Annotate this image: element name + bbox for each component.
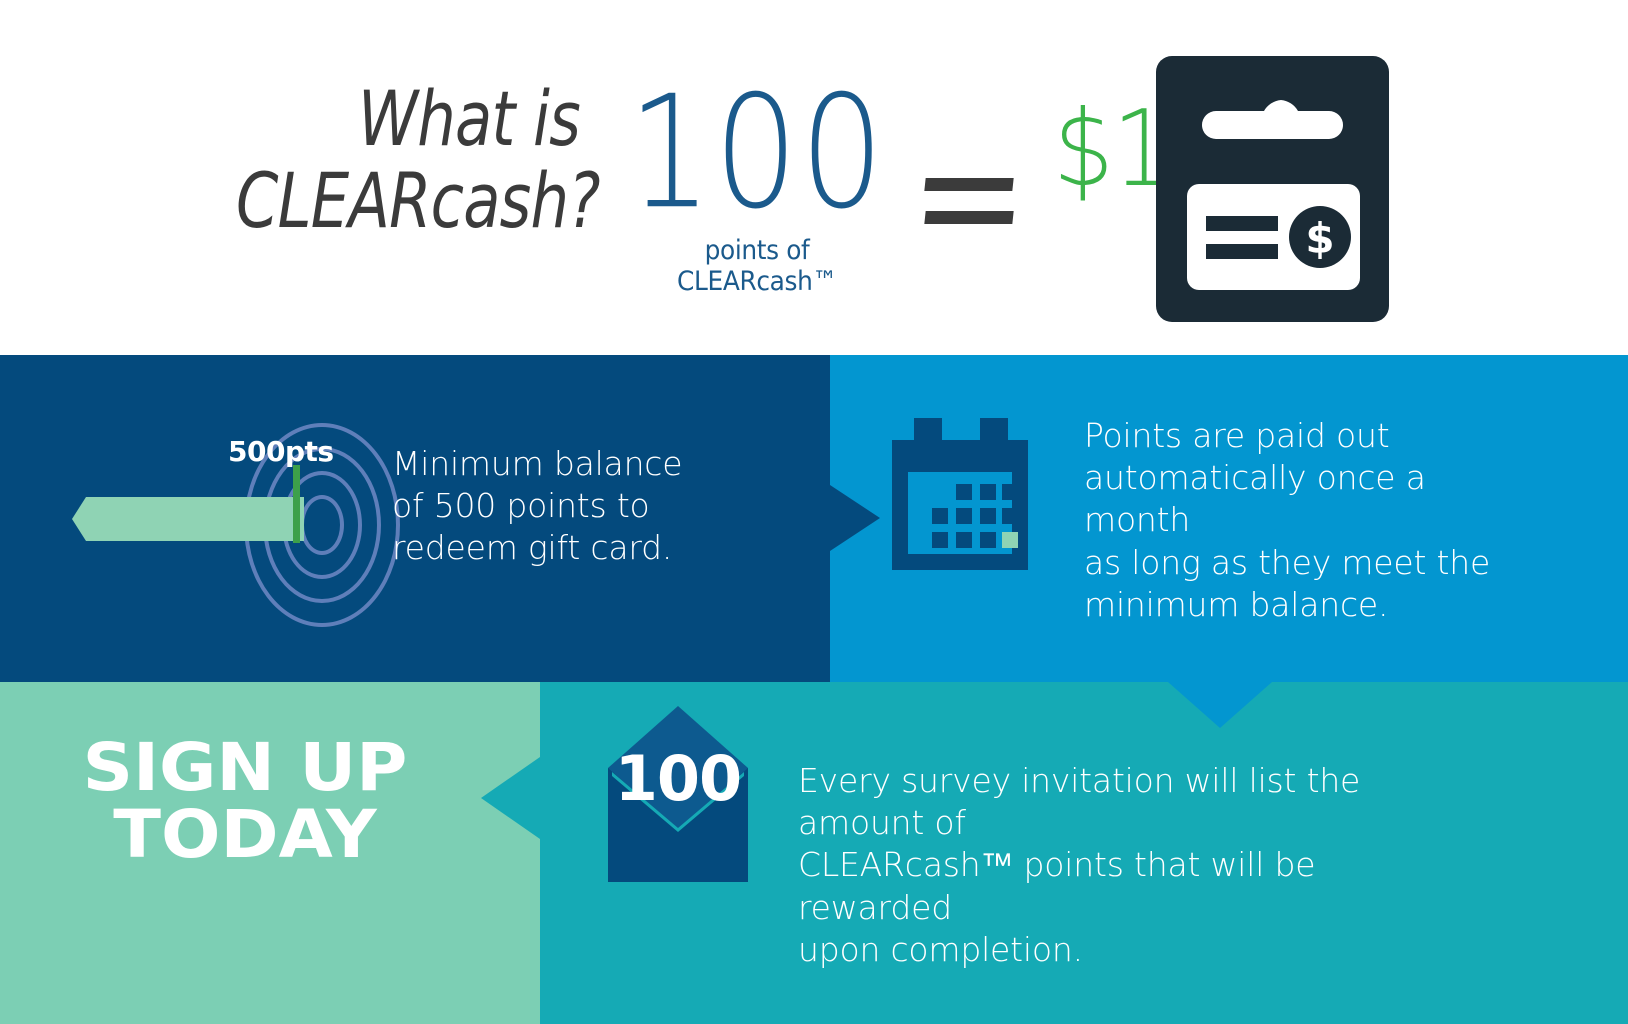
infographic-root: What is CLEARcash? 100 points of CLEARca… <box>0 0 1628 1024</box>
middle-section: 500pts Minimum balance of 500 points to … <box>0 355 1628 682</box>
gift-card-icon: $ <box>1156 56 1389 322</box>
page-title: What is CLEARcash? <box>236 78 580 242</box>
minimum-balance-text: Minimum balance of 500 points to redeem … <box>392 443 722 570</box>
signup-panel[interactable]: SIGN UP TODAY <box>0 682 540 1024</box>
header-section: What is CLEARcash? 100 points of CLEARca… <box>0 0 1628 355</box>
points-gauge: 500pts <box>60 435 380 605</box>
gauge-label: 500pts <box>228 435 334 468</box>
equals-bar-bottom <box>924 211 1013 224</box>
envelope-points-number: 100 <box>608 742 748 815</box>
equals-bar-top <box>924 178 1013 191</box>
svg-text:$: $ <box>1305 214 1334 263</box>
equals-icon <box>925 178 1013 234</box>
points-caption: points of CLEARcash™ <box>624 235 891 297</box>
calendar-icon <box>876 410 1044 578</box>
dollar-value: $1 <box>1053 96 1171 202</box>
signup-cta-label: SIGN UP TODAY <box>0 734 505 869</box>
gauge-progress-bar <box>72 497 304 541</box>
survey-text: Every survey invitation will list the am… <box>798 760 1418 971</box>
bottom-section: SIGN UP TODAY 100 Every survey invitatio… <box>0 682 1628 1024</box>
gauge-threshold-marker <box>293 465 300 543</box>
payout-text: Points are paid out automatically once a… <box>1084 415 1504 626</box>
points-number: 100 <box>612 80 902 228</box>
points-equivalence-block: 100 points of CLEARcash™ <box>612 80 902 297</box>
gauge-ring-1 <box>300 495 344 555</box>
